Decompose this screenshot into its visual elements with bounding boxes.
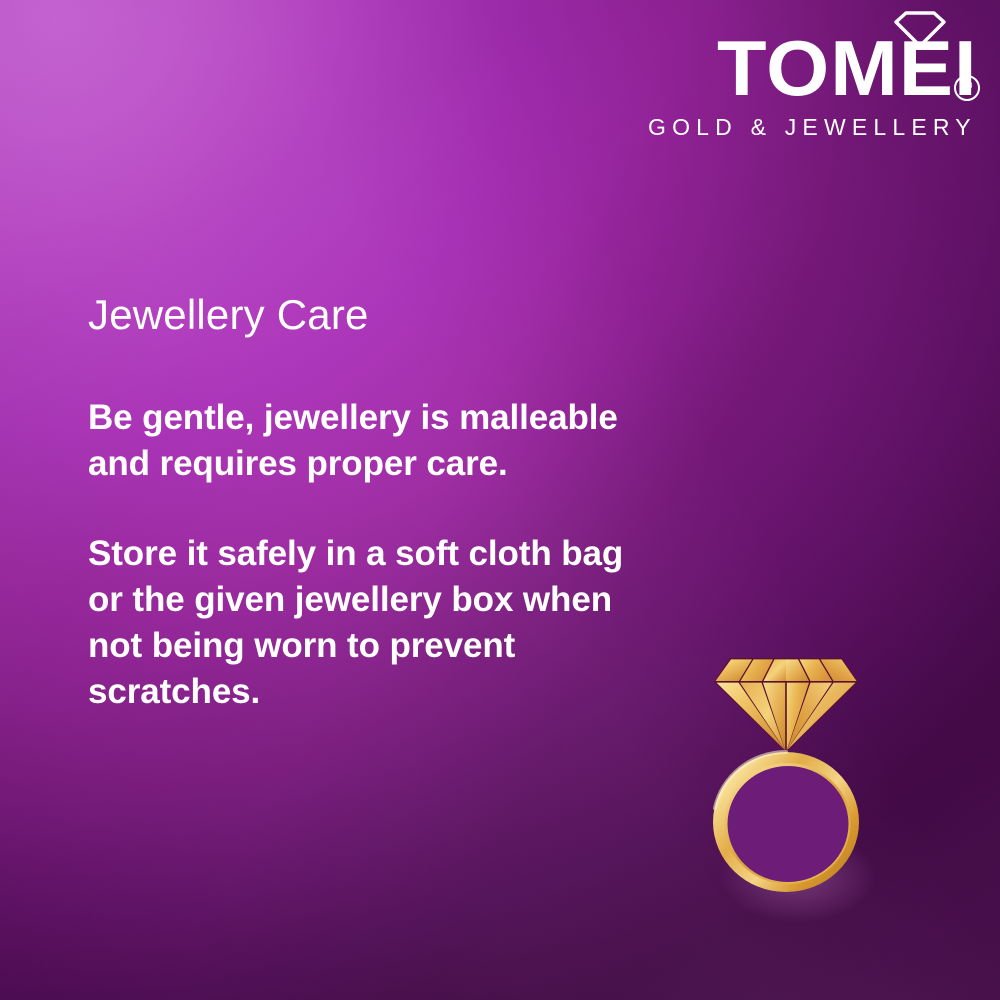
brand-tagline: GOLD & JEWELLERY [648,114,974,141]
page-title: Jewellery Care [88,292,668,338]
brand-wordmark: TOMEI [717,33,978,105]
registered-trademark-icon: ® [954,75,980,101]
brand-wordmark-row: TOMEI ® [648,8,978,105]
copy-block: Jewellery Care Be gentle, jewellery is m… [88,292,668,715]
brand-logo: TOMEI ® GOLD & JEWELLERY [648,8,978,141]
gold-ring-band [713,752,859,892]
ring-vector [690,630,900,930]
care-paragraph-1: Be gentle, jewellery is malleable and re… [88,395,668,487]
poster-canvas: TOMEI ® GOLD & JEWELLERY Jewellery Care … [0,0,1000,1000]
diamond-gem-icon [714,658,858,752]
diamond-ring-illustration [690,630,900,930]
care-paragraph-2: Store it safely in a soft cloth bag or t… [88,531,668,715]
